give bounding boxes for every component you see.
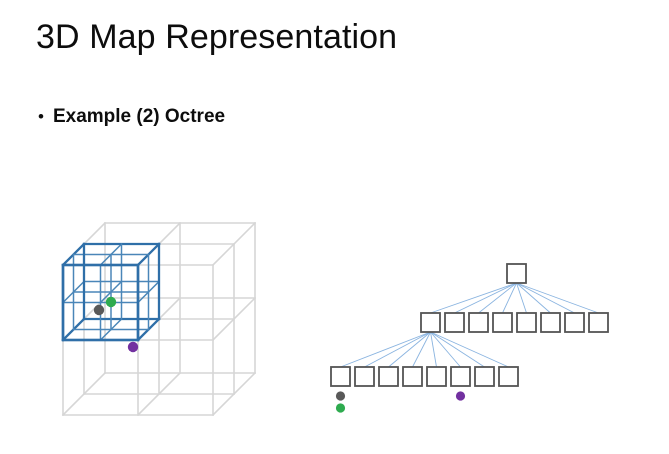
tree-edge (431, 332, 461, 367)
tree-node[interactable] (469, 313, 488, 332)
tree-node[interactable] (475, 367, 494, 386)
tree-edge (517, 283, 599, 313)
tree-node[interactable] (379, 367, 398, 386)
tree-edge (431, 332, 509, 367)
tree-node[interactable] (507, 264, 526, 283)
tree-svg-canvas (312, 250, 652, 422)
cube-svg-canvas (45, 222, 290, 432)
octree-cube-diagram (45, 222, 290, 432)
point-purple (128, 342, 138, 352)
tree-node[interactable] (451, 367, 470, 386)
tree-edge (431, 283, 517, 313)
tree-node[interactable] (517, 313, 536, 332)
tree-edge (479, 283, 517, 313)
bullet-item-label: Example (2) Octree (53, 106, 225, 128)
tree-node[interactable] (445, 313, 464, 332)
tree-edge (389, 332, 431, 367)
slide-canvas: 3D Map Representation • Example (2) Octr… (0, 0, 669, 454)
tree-node[interactable] (403, 367, 422, 386)
tree-leaf-points (336, 391, 465, 412)
tree-node[interactable] (565, 313, 584, 332)
tree-node[interactable] (355, 367, 374, 386)
octree-tree-diagram (312, 250, 652, 420)
tree-node[interactable] (421, 313, 440, 332)
point-gray (94, 305, 104, 315)
leaf-point-purple (456, 391, 465, 400)
tree-node[interactable] (541, 313, 560, 332)
highlighted-octant-wireframe (63, 244, 159, 340)
bullet-list-item: • Example (2) Octree (38, 106, 225, 128)
tree-node[interactable] (589, 313, 608, 332)
tree-nodes (331, 264, 608, 386)
point-green (106, 297, 116, 307)
tree-edge (365, 332, 431, 367)
leaf-point-green (336, 403, 345, 412)
tree-edge (455, 283, 517, 313)
tree-edge (341, 332, 431, 367)
tree-node[interactable] (427, 367, 446, 386)
tree-edge (431, 332, 437, 367)
leaf-point-gray (336, 391, 345, 400)
bullet-point-icon: • (38, 108, 44, 125)
tree-node[interactable] (331, 367, 350, 386)
page-title: 3D Map Representation (36, 18, 397, 57)
tree-node[interactable] (499, 367, 518, 386)
tree-edge (431, 332, 485, 367)
tree-node[interactable] (493, 313, 512, 332)
